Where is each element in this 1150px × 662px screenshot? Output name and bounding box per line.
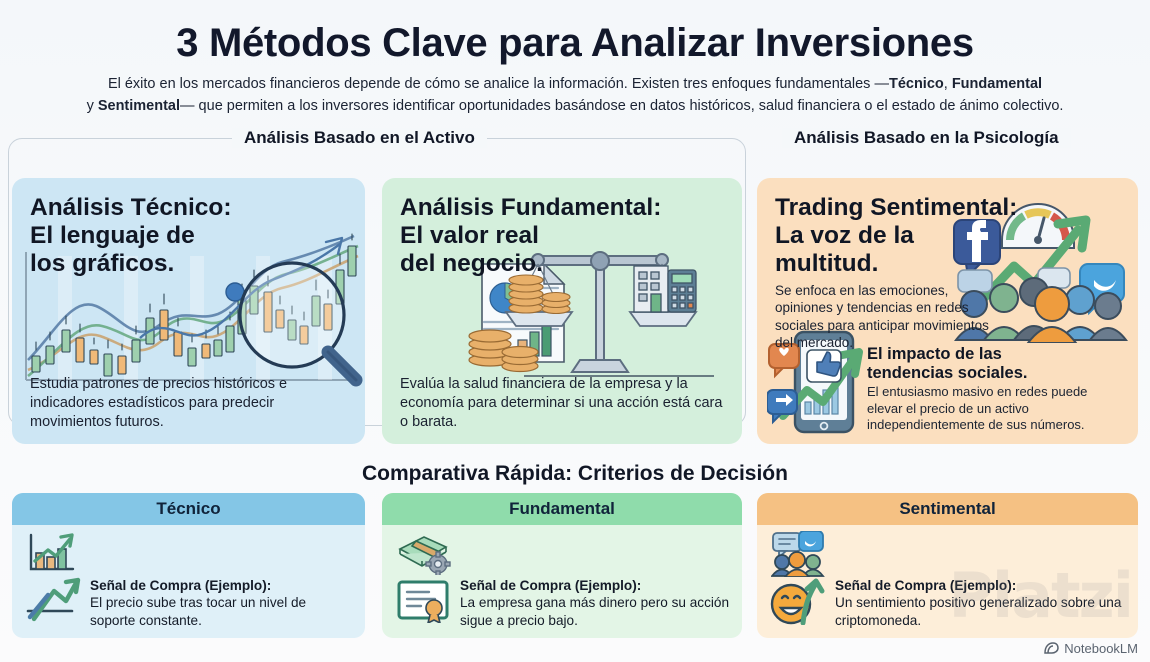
intro-paragraph: El éxito en los mercados financieros dep…: [33, 74, 1118, 118]
signal-text-tecnico: El precio sube tras tocar un nivel de so…: [90, 595, 306, 627]
method-cards: Análisis Técnico: El lenguaje de los grá…: [0, 178, 1150, 444]
intro-sep: ,: [944, 76, 952, 92]
signal-label-tecnico: Señal de Compra (Ejemplo):: [90, 577, 355, 594]
card-sentimental-heading: Trading Sentimental: La voz de la multit…: [775, 194, 1120, 278]
people-chat-bubbles-icon: [771, 531, 827, 577]
intro-bold-sentimental: Sentimental: [98, 98, 180, 114]
card-tecnico-heading: Análisis Técnico: El lenguaje de los grá…: [30, 194, 347, 278]
intro-bold-fundamental: Fundamental: [952, 76, 1042, 92]
compare-body-fundamental: Señal de Compra (Ejemplo): La empresa ga…: [382, 525, 742, 638]
group-label-psychology: Análisis Basado en la Psicología: [782, 128, 1071, 148]
notebooklm-watermark: NotebookLM: [1044, 641, 1138, 656]
card-sentimental-subsection: El impacto de las tendencias sociales. E…: [867, 345, 1124, 434]
comparison-title: Comparativa Rápida: Criterios de Decisió…: [0, 462, 1150, 486]
subsection-heading: El impacto de las tendencias sociales.: [867, 345, 1124, 382]
signal-label-fundamental: Señal de Compra (Ejemplo):: [460, 577, 732, 594]
intro-text-1: El éxito en los mercados financieros dep…: [108, 76, 889, 92]
card-sentimental[interactable]: Trading Sentimental: La voz de la multit…: [757, 178, 1138, 444]
compare-header-tecnico: Técnico: [12, 493, 365, 525]
compare-header-fundamental: Fundamental: [382, 493, 742, 525]
compare-card-tecnico[interactable]: Técnico: [12, 493, 365, 638]
group-label-asset: Análisis Basado en el Activo: [232, 128, 487, 148]
notebooklm-label: NotebookLM: [1064, 641, 1138, 656]
bar-chart-uptrend-icon: [26, 531, 78, 575]
card-fundamental[interactable]: Análisis Fundamental: El valor real del …: [382, 178, 742, 444]
signal-text-fundamental: La empresa gana más dinero pero su acció…: [460, 595, 729, 627]
compare-body-tecnico: Señal de Compra (Ejemplo): El precio sub…: [12, 525, 365, 638]
card-fundamental-body: Evalúa la salud financiera de la empresa…: [400, 375, 726, 432]
subsection-body: El entusiasmo masivo en redes puede elev…: [867, 384, 1124, 434]
intro-text-3: — que permiten a los inversores identifi…: [180, 98, 1063, 114]
compare-signal-tecnico: Señal de Compra (Ejemplo): El precio sub…: [90, 577, 355, 629]
compare-card-fundamental[interactable]: Fundamental: [382, 493, 742, 638]
certificate-icon: [394, 577, 452, 623]
infographic-page: 3 Métodos Clave para Analizar Inversione…: [0, 0, 1150, 662]
card-tecnico-body: Estudia patrones de precios históricos e…: [30, 375, 349, 432]
card-fundamental-heading: Análisis Fundamental: El valor real del …: [400, 194, 724, 278]
intro-bold-tecnico: Técnico: [889, 76, 944, 92]
trendline-arrow-icon: [24, 577, 82, 623]
group-label-row: Análisis Basado en el Activo Análisis Ba…: [0, 128, 1150, 158]
page-title: 3 Métodos Clave para Analizar Inversione…: [0, 0, 1150, 64]
platzi-watermark: Platzi: [948, 559, 1132, 632]
intro-text-2: y: [87, 98, 98, 114]
cash-gear-icon: [396, 531, 452, 575]
compare-signal-fundamental: Señal de Compra (Ejemplo): La empresa ga…: [460, 577, 732, 629]
card-sentimental-lead: Se enfoca en las emociones, opiniones y …: [775, 282, 990, 352]
smiley-uptrend-icon: [769, 577, 827, 625]
compare-header-sentimental: Sentimental: [757, 493, 1138, 525]
notebooklm-logo-icon: [1044, 642, 1059, 655]
card-tecnico[interactable]: Análisis Técnico: El lenguaje de los grá…: [12, 178, 365, 444]
